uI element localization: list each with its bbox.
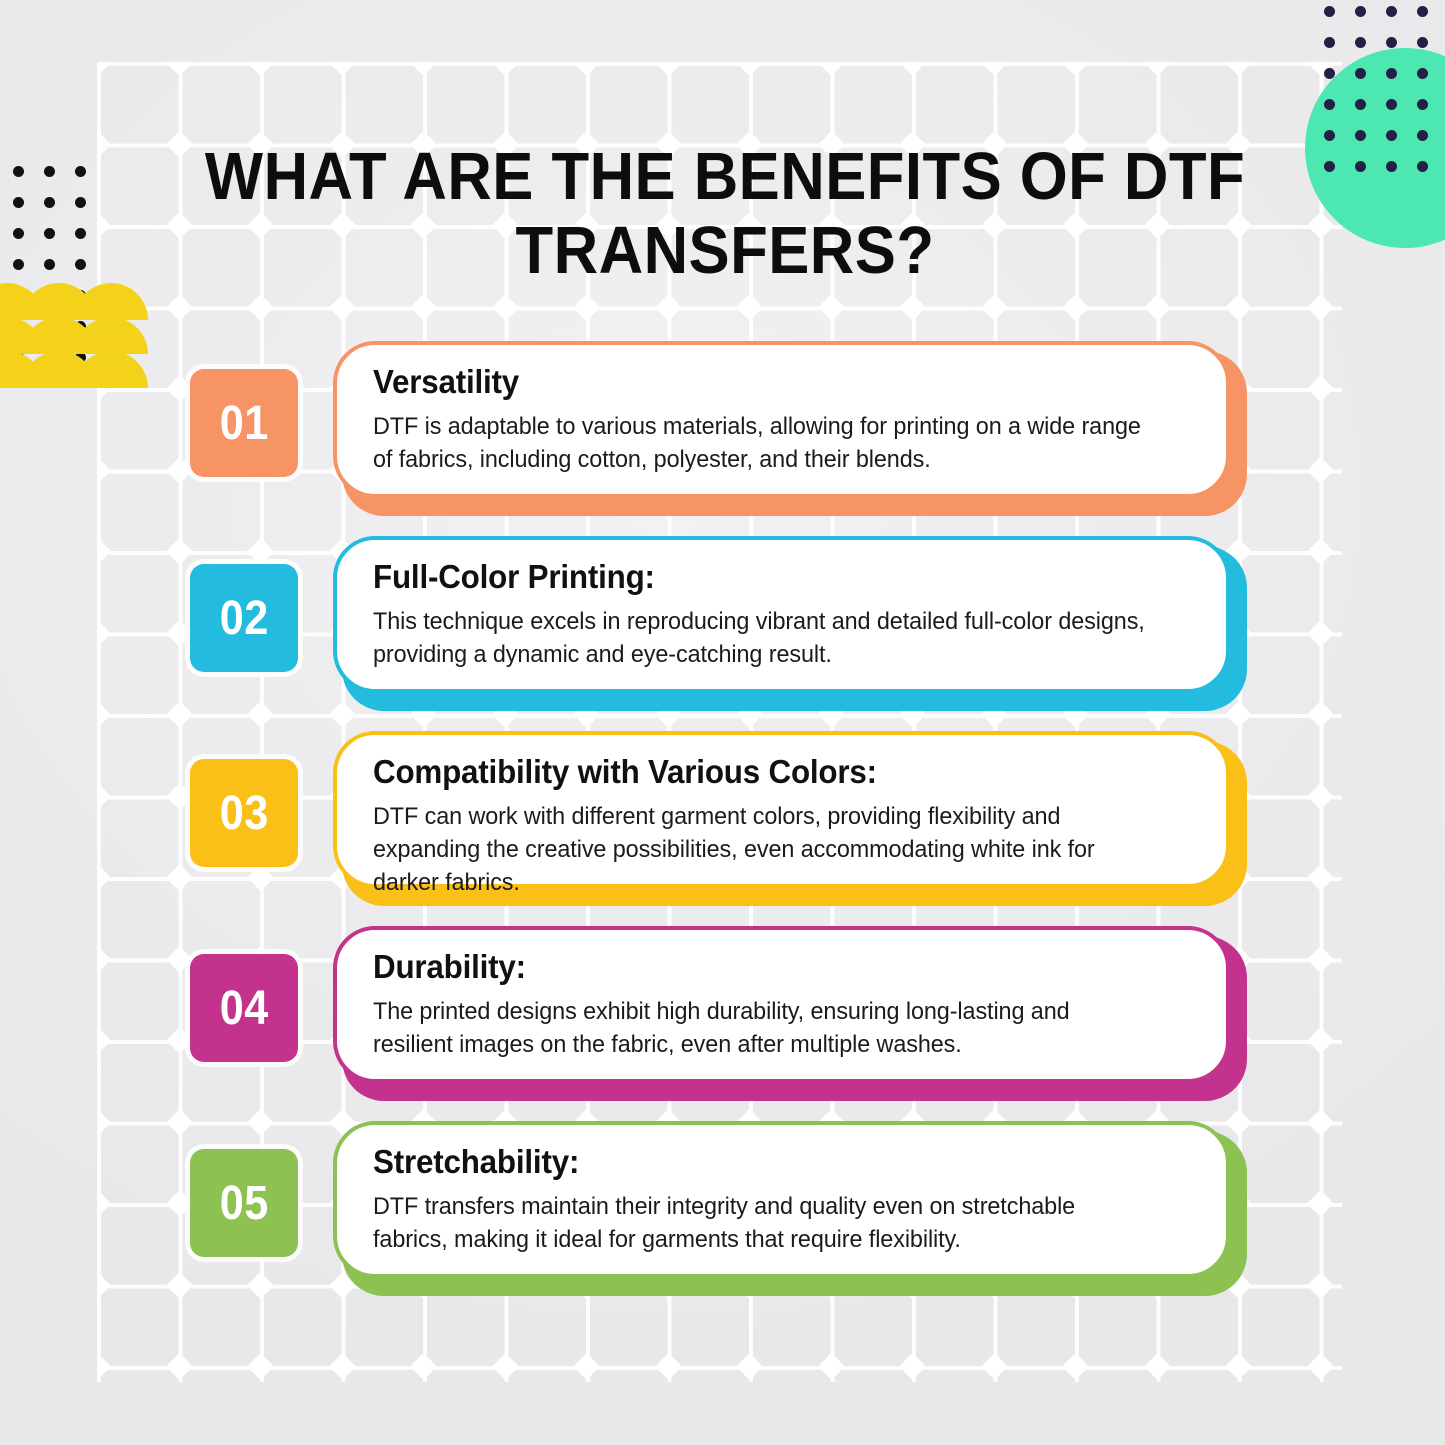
grid-diamond-icon	[1307, 1353, 1334, 1380]
grid-diamond-icon	[329, 62, 356, 76]
grid-diamond-icon	[1225, 1353, 1252, 1380]
grid-diamond-icon	[818, 62, 845, 76]
decorative-dot-icon	[1324, 37, 1335, 48]
benefit-list: 01VersatilityDTF is adaptable to various…	[0, 341, 1445, 1316]
grid-diamond-icon	[573, 294, 600, 321]
decorative-dot-icon	[1386, 68, 1397, 79]
benefit-row: 03Compatibility with Various Colors:DTF …	[0, 731, 1445, 926]
decorative-dot-icon	[44, 166, 55, 177]
grid-diamond-icon	[410, 294, 437, 321]
decorative-dot-icon	[75, 228, 86, 239]
grid-diamond-icon	[981, 1353, 1008, 1380]
benefit-description: DTF can work with different garment colo…	[373, 800, 1155, 899]
decorative-dot-icon	[13, 259, 24, 270]
benefit-number-label: 02	[220, 591, 269, 646]
benefit-description: The printed designs exhibit high durabil…	[373, 995, 1155, 1061]
decorative-dot-icon	[75, 166, 86, 177]
benefit-card-body: VersatilityDTF is adaptable to various m…	[333, 341, 1230, 498]
benefit-row: 01VersatilityDTF is adaptable to various…	[0, 341, 1445, 536]
grid-diamond-icon	[410, 1353, 437, 1380]
decorative-dot-icon	[13, 228, 24, 239]
benefit-number-label: 03	[220, 786, 269, 841]
benefit-description: DTF transfers maintain their integrity a…	[373, 1190, 1155, 1256]
benefit-description: This technique excels in reproducing vib…	[373, 605, 1155, 671]
grid-diamond-icon	[247, 294, 274, 321]
grid-diamond-icon	[492, 294, 519, 321]
grid-diamond-icon	[736, 62, 763, 76]
grid-diamond-icon	[1062, 294, 1089, 321]
grid-diamond-icon	[899, 62, 926, 76]
benefit-number-label: 05	[220, 1176, 269, 1231]
benefit-number-badge: 02	[190, 564, 298, 672]
half-disc-icon	[74, 283, 148, 320]
grid-diamond-icon	[166, 1353, 193, 1380]
decorative-dot-icon	[1355, 130, 1366, 141]
decorative-dot-icon	[1417, 99, 1428, 110]
decorative-dot-icon	[75, 259, 86, 270]
benefit-number-badge: 03	[190, 759, 298, 867]
decorative-dot-icon	[1355, 37, 1366, 48]
grid-diamond-icon	[1062, 62, 1089, 76]
grid-diamond-icon	[573, 1353, 600, 1380]
benefit-card: Stretchability:DTF transfers maintain th…	[333, 1121, 1248, 1296]
decorative-dot-icon	[1355, 161, 1366, 172]
grid-diamond-icon	[329, 1353, 356, 1380]
benefit-card-body: Compatibility with Various Colors:DTF ca…	[333, 731, 1230, 888]
grid-diamond-icon	[736, 1353, 763, 1380]
grid-diamond-icon	[329, 294, 356, 321]
grid-diamond-icon	[899, 1353, 926, 1380]
decorative-dot-icon	[75, 197, 86, 208]
benefit-card-body: Durability:The printed designs exhibit h…	[333, 926, 1230, 1083]
benefit-number-label: 01	[220, 396, 269, 451]
grid-diamond-icon	[1144, 62, 1171, 76]
decorative-dot-icon	[1417, 37, 1428, 48]
grid-diamond-icon	[655, 1353, 682, 1380]
decorative-dot-icon	[1386, 161, 1397, 172]
grid-diamond-icon	[899, 294, 926, 321]
grid-diamond-icon	[818, 1353, 845, 1380]
decorative-dot-icon	[13, 197, 24, 208]
decorative-dot-icon	[13, 166, 24, 177]
grid-diamond-icon	[655, 62, 682, 76]
grid-diamond-icon	[573, 62, 600, 76]
benefit-row: 05Stretchability:DTF transfers maintain …	[0, 1121, 1445, 1316]
grid-diamond-icon	[247, 1353, 274, 1380]
grid-diamond-icon	[1144, 294, 1171, 321]
decorative-dot-icon	[44, 259, 55, 270]
grid-diamond-icon	[492, 62, 519, 76]
decorative-dot-icon	[1417, 68, 1428, 79]
benefit-heading: Full-Color Printing:	[373, 558, 1151, 596]
grid-diamond-icon	[97, 212, 111, 239]
benefit-number-badge: 05	[190, 1149, 298, 1257]
decorative-dot-icon	[1386, 6, 1397, 17]
benefit-heading: Versatility	[373, 363, 1151, 401]
benefit-card: Full-Color Printing:This technique excel…	[333, 536, 1248, 711]
benefit-heading: Stretchability:	[373, 1143, 1151, 1181]
benefit-card: Durability:The printed designs exhibit h…	[333, 926, 1248, 1101]
decorative-dot-icon	[1324, 68, 1335, 79]
decorative-dot-icon	[44, 228, 55, 239]
grid-diamond-icon	[1307, 294, 1334, 321]
grid-diamond-icon	[1225, 62, 1252, 76]
benefit-heading: Durability:	[373, 948, 1151, 986]
page-title: WHAT ARE THE BENEFITS OF DTF TRANSFERS?	[196, 140, 1254, 288]
benefit-card: VersatilityDTF is adaptable to various m…	[333, 341, 1248, 516]
grid-diamond-icon	[166, 62, 193, 76]
grid-diamond-icon	[736, 294, 763, 321]
benefit-row: 02Full-Color Printing:This technique exc…	[0, 536, 1445, 731]
benefit-card-body: Full-Color Printing:This technique excel…	[333, 536, 1230, 693]
benefit-number-label: 04	[220, 981, 269, 1036]
benefit-number-badge: 01	[190, 369, 298, 477]
decorative-dot-icon	[1417, 161, 1428, 172]
infographic-canvas: WHAT ARE THE BENEFITS OF DTF TRANSFERS? …	[0, 0, 1445, 1445]
decorative-dot-icon	[1355, 6, 1366, 17]
grid-diamond-icon	[247, 62, 274, 76]
decorative-dot-icon	[44, 197, 55, 208]
decorative-dot-icon	[1417, 6, 1428, 17]
grid-diamond-icon	[818, 294, 845, 321]
grid-diamond-icon	[166, 212, 193, 239]
grid-diamond-icon	[655, 294, 682, 321]
grid-diamond-icon	[97, 62, 111, 76]
benefit-number-badge: 04	[190, 954, 298, 1062]
grid-diamond-icon	[1062, 1353, 1089, 1380]
grid-diamond-icon	[97, 1353, 111, 1380]
decorative-dot-icon	[1324, 6, 1335, 17]
benefit-heading: Compatibility with Various Colors:	[373, 753, 1151, 791]
grid-diamond-icon	[410, 62, 437, 76]
benefit-card-body: Stretchability:DTF transfers maintain th…	[333, 1121, 1230, 1278]
decorative-dot-icon	[1355, 99, 1366, 110]
decorative-dot-icon	[1386, 37, 1397, 48]
grid-diamond-icon	[981, 294, 1008, 321]
decorative-dot-icon	[1324, 99, 1335, 110]
grid-diamond-icon	[492, 1353, 519, 1380]
grid-diamond-icon	[1225, 294, 1252, 321]
decorative-dot-icon	[1324, 130, 1335, 141]
grid-diamond-icon	[166, 294, 193, 321]
decorative-dot-icon	[1386, 130, 1397, 141]
grid-diamond-icon	[1144, 1353, 1171, 1380]
decorative-dot-icon	[1417, 130, 1428, 141]
grid-diamond-icon	[1307, 212, 1334, 239]
decorative-dot-icon	[1386, 99, 1397, 110]
benefit-row: 04Durability:The printed designs exhibit…	[0, 926, 1445, 1121]
benefit-card: Compatibility with Various Colors:DTF ca…	[333, 731, 1248, 906]
decorative-dot-icon	[1355, 68, 1366, 79]
benefit-description: DTF is adaptable to various materials, a…	[373, 410, 1155, 476]
grid-diamond-icon	[981, 62, 1008, 76]
grid-diamond-icon	[166, 131, 193, 158]
decorative-dot-icon	[1324, 161, 1335, 172]
grid-diamond-icon	[97, 131, 111, 158]
